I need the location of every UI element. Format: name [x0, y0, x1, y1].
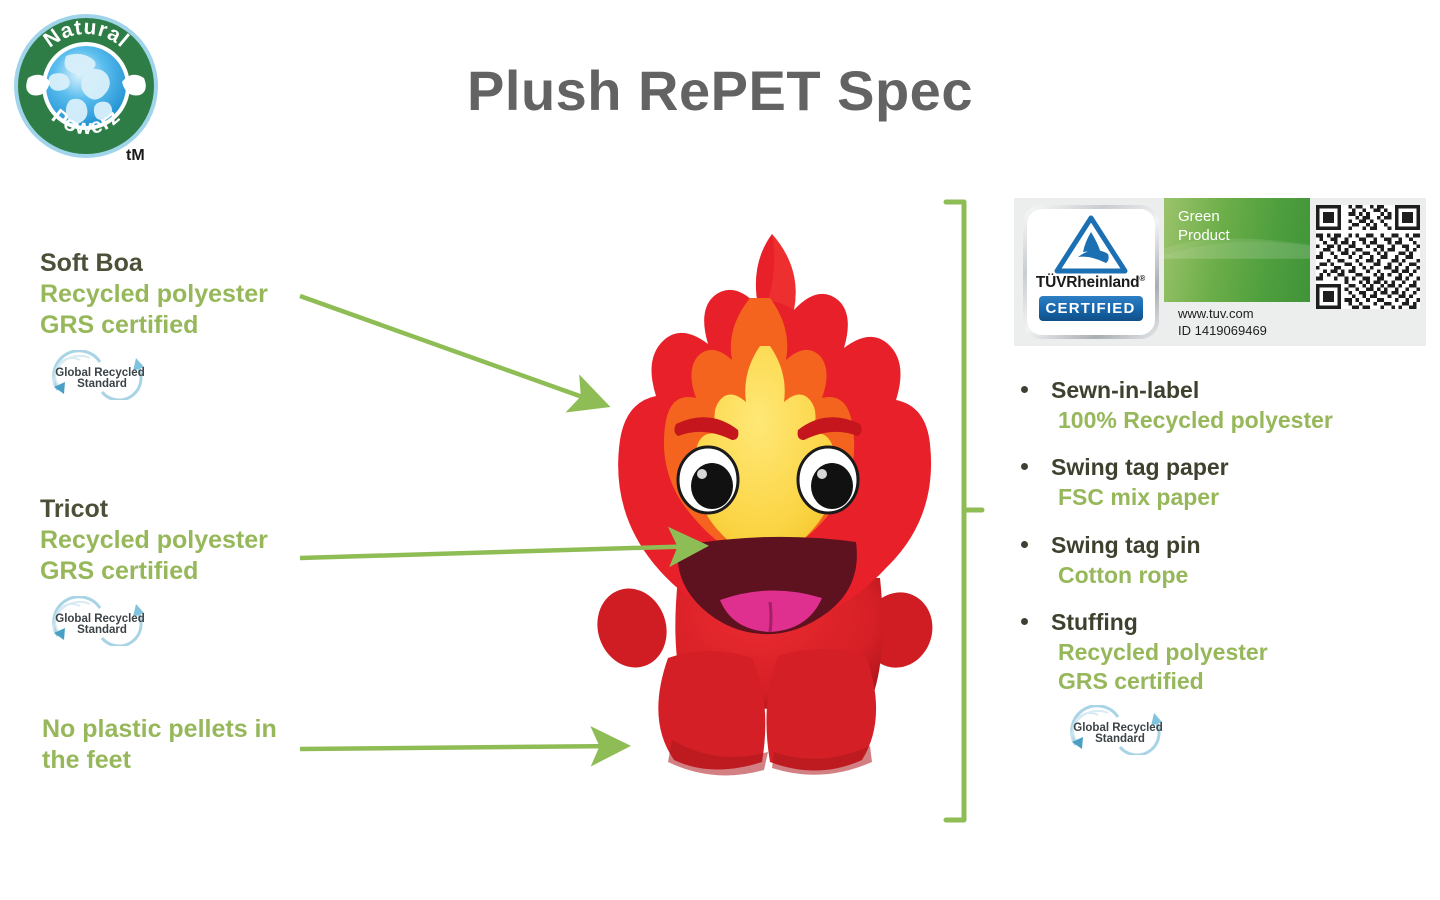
tuv-triangle-icon	[1054, 215, 1128, 275]
bullet-dot-icon	[1021, 541, 1028, 548]
tuv-footer-info: www.tuv.com ID 1419069469	[1164, 302, 1310, 346]
right-group-bracket	[918, 192, 988, 832]
list-item: Stuffing Recycled polyester GRS certifie…	[1014, 608, 1434, 755]
tuv-logo-plate: TÜVRheinland® CERTIFIED	[1014, 198, 1164, 346]
tuv-brand-name: TÜVRheinland®	[1036, 274, 1145, 292]
spec-bullet-list: Sewn-in-label 100% Recycled polyester Sw…	[1014, 376, 1434, 773]
bullet-sub: Cotton rope	[1058, 561, 1434, 590]
tuv-rheinland-certification-badge: TÜVRheinland® CERTIFIED Green Product ww…	[1014, 198, 1426, 346]
bullet-dot-icon	[1021, 463, 1028, 470]
tuv-id: ID 1419069469	[1178, 323, 1310, 340]
bullet-sub: FSC mix paper	[1058, 483, 1434, 512]
list-item: Sewn-in-label 100% Recycled polyester	[1014, 376, 1434, 435]
bullet-title: Swing tag paper	[1051, 453, 1434, 483]
slide-canvas: Natural Powerz tM Plush RePET Spec Soft …	[0, 0, 1440, 900]
green-product-line-2: Product	[1178, 227, 1310, 246]
bullet-title: Swing tag pin	[1051, 531, 1434, 561]
bullet-sub: Recycled polyester	[1058, 638, 1434, 667]
bullet-dot-icon	[1021, 618, 1028, 625]
bullet-sub: GRS certified	[1058, 667, 1434, 696]
soft-boa-arrow	[300, 296, 602, 404]
tuv-green-panel: Green Product www.tuv.com ID 1419069469	[1164, 198, 1310, 346]
tuv-website: www.tuv.com	[1178, 306, 1310, 323]
global-recycled-standard-logo: Global Recycled Standard	[1058, 705, 1434, 755]
bullet-title: Sewn-in-label	[1051, 376, 1434, 406]
list-item: Swing tag paper FSC mix paper	[1014, 453, 1434, 512]
no-pellets-arrow	[300, 746, 622, 749]
bullet-dot-icon	[1021, 386, 1028, 393]
tricot-arrow	[300, 546, 700, 558]
list-item: Swing tag pin Cotton rope	[1014, 531, 1434, 590]
bullet-title: Stuffing	[1051, 608, 1434, 638]
bullet-sub: 100% Recycled polyester	[1058, 406, 1434, 435]
grs-text-line-2: Standard	[1095, 733, 1145, 745]
qr-code	[1310, 198, 1426, 346]
green-product-line-1: Green	[1178, 208, 1310, 227]
registered-mark: ®	[1139, 274, 1145, 283]
tuv-certified-label: CERTIFIED	[1039, 296, 1143, 321]
